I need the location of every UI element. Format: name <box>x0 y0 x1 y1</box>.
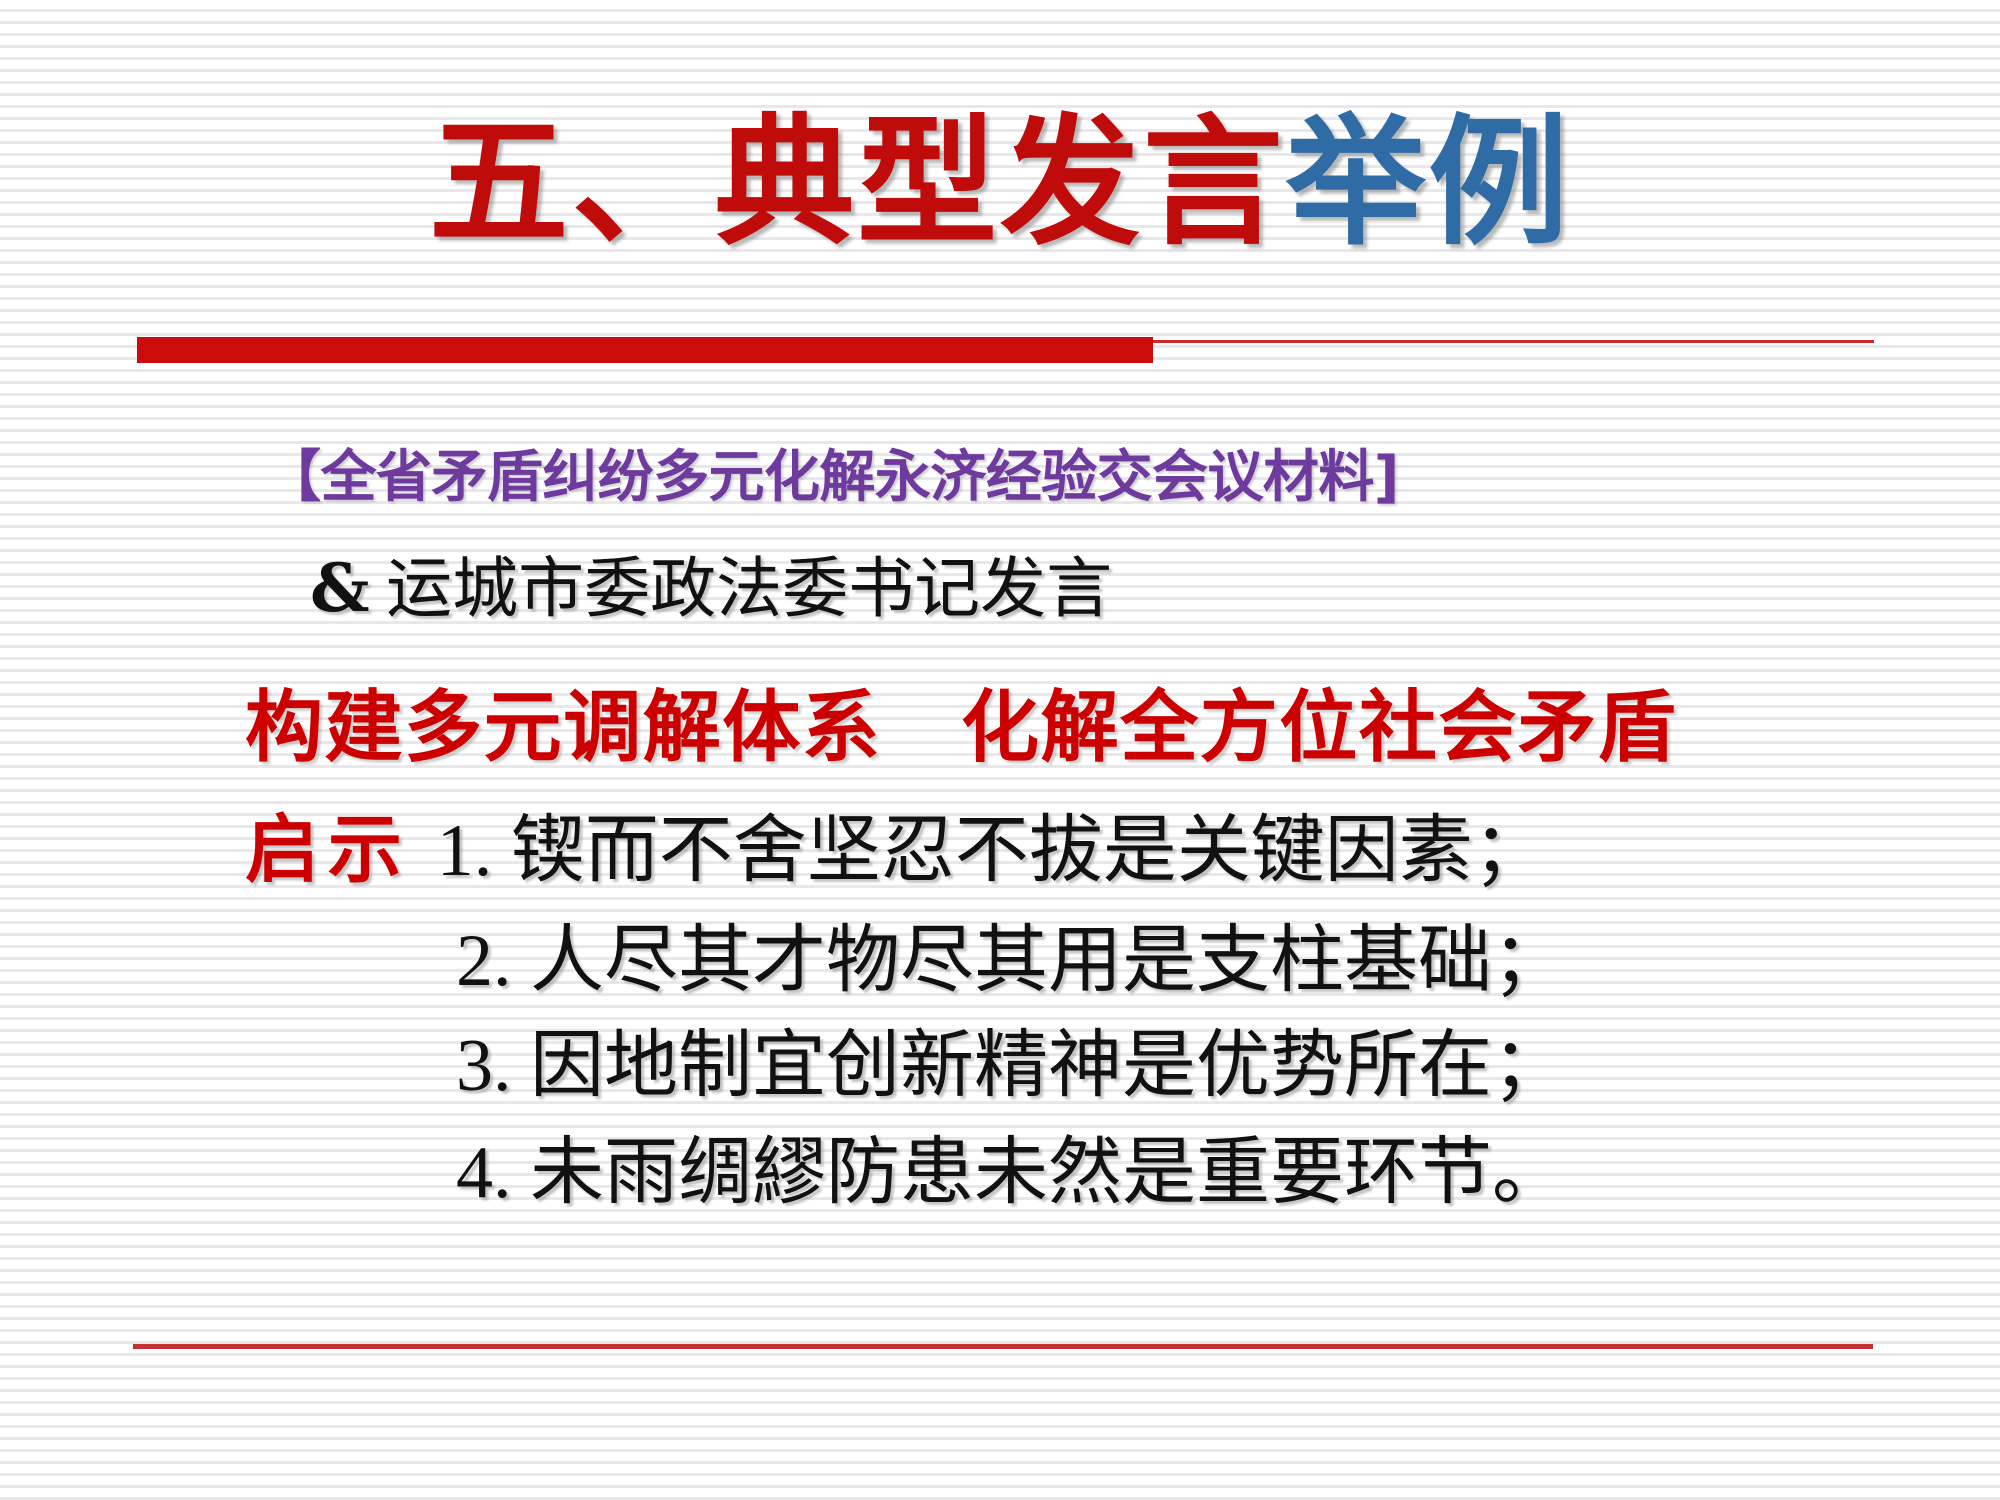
lesson-item-2: 2. 人尽其才物尽其用是支柱基础； <box>456 900 1566 1007</box>
headline: 构建多元调解体系 化解全方位社会矛盾 <box>245 665 1677 777</box>
footer-rule <box>133 1344 1873 1349</box>
title-underline-thick <box>137 337 1153 363</box>
page-title: 五、典型发言举例 <box>0 110 2000 257</box>
ampersand-bullet-icon: & <box>310 549 370 627</box>
lesson-item-1-text: 1. 锲而不舍坚忍不拔是关键因素； <box>437 810 1547 892</box>
speaker-line: & 运城市委政法委书记发言 <box>310 535 1112 631</box>
speaker-text: 运城市委政法委书记发言 <box>386 553 1112 626</box>
page-title-blue-part: 举例 <box>1286 102 1572 265</box>
lesson-item-4-text: 4. 未雨绸繆防患未然是重要环节。 <box>456 1132 1566 1214</box>
bracket-heading: 【全省矛盾纠纷多元化解永济经验交会议材料] <box>265 432 1399 513</box>
lessons-label: 启示 <box>245 810 437 892</box>
slide-canvas: 五、典型发言举例 【全省矛盾纠纷多元化解永济经验交会议材料] & 运城市委政法委… <box>0 0 2000 1500</box>
page-title-red-part: 五、典型发言 <box>429 102 1286 265</box>
lesson-item-1: 启示1. 锲而不舍坚忍不拔是关键因素； <box>245 790 1547 897</box>
lesson-item-2-text: 2. 人尽其才物尽其用是支柱基础； <box>456 920 1566 1002</box>
lesson-item-3-text: 3. 因地制宜创新精神是优势所在； <box>456 1025 1566 1107</box>
lesson-item-3: 3. 因地制宜创新精神是优势所在； <box>456 1005 1566 1112</box>
lesson-item-4: 4. 未雨绸繆防患未然是重要环节。 <box>456 1112 1566 1219</box>
